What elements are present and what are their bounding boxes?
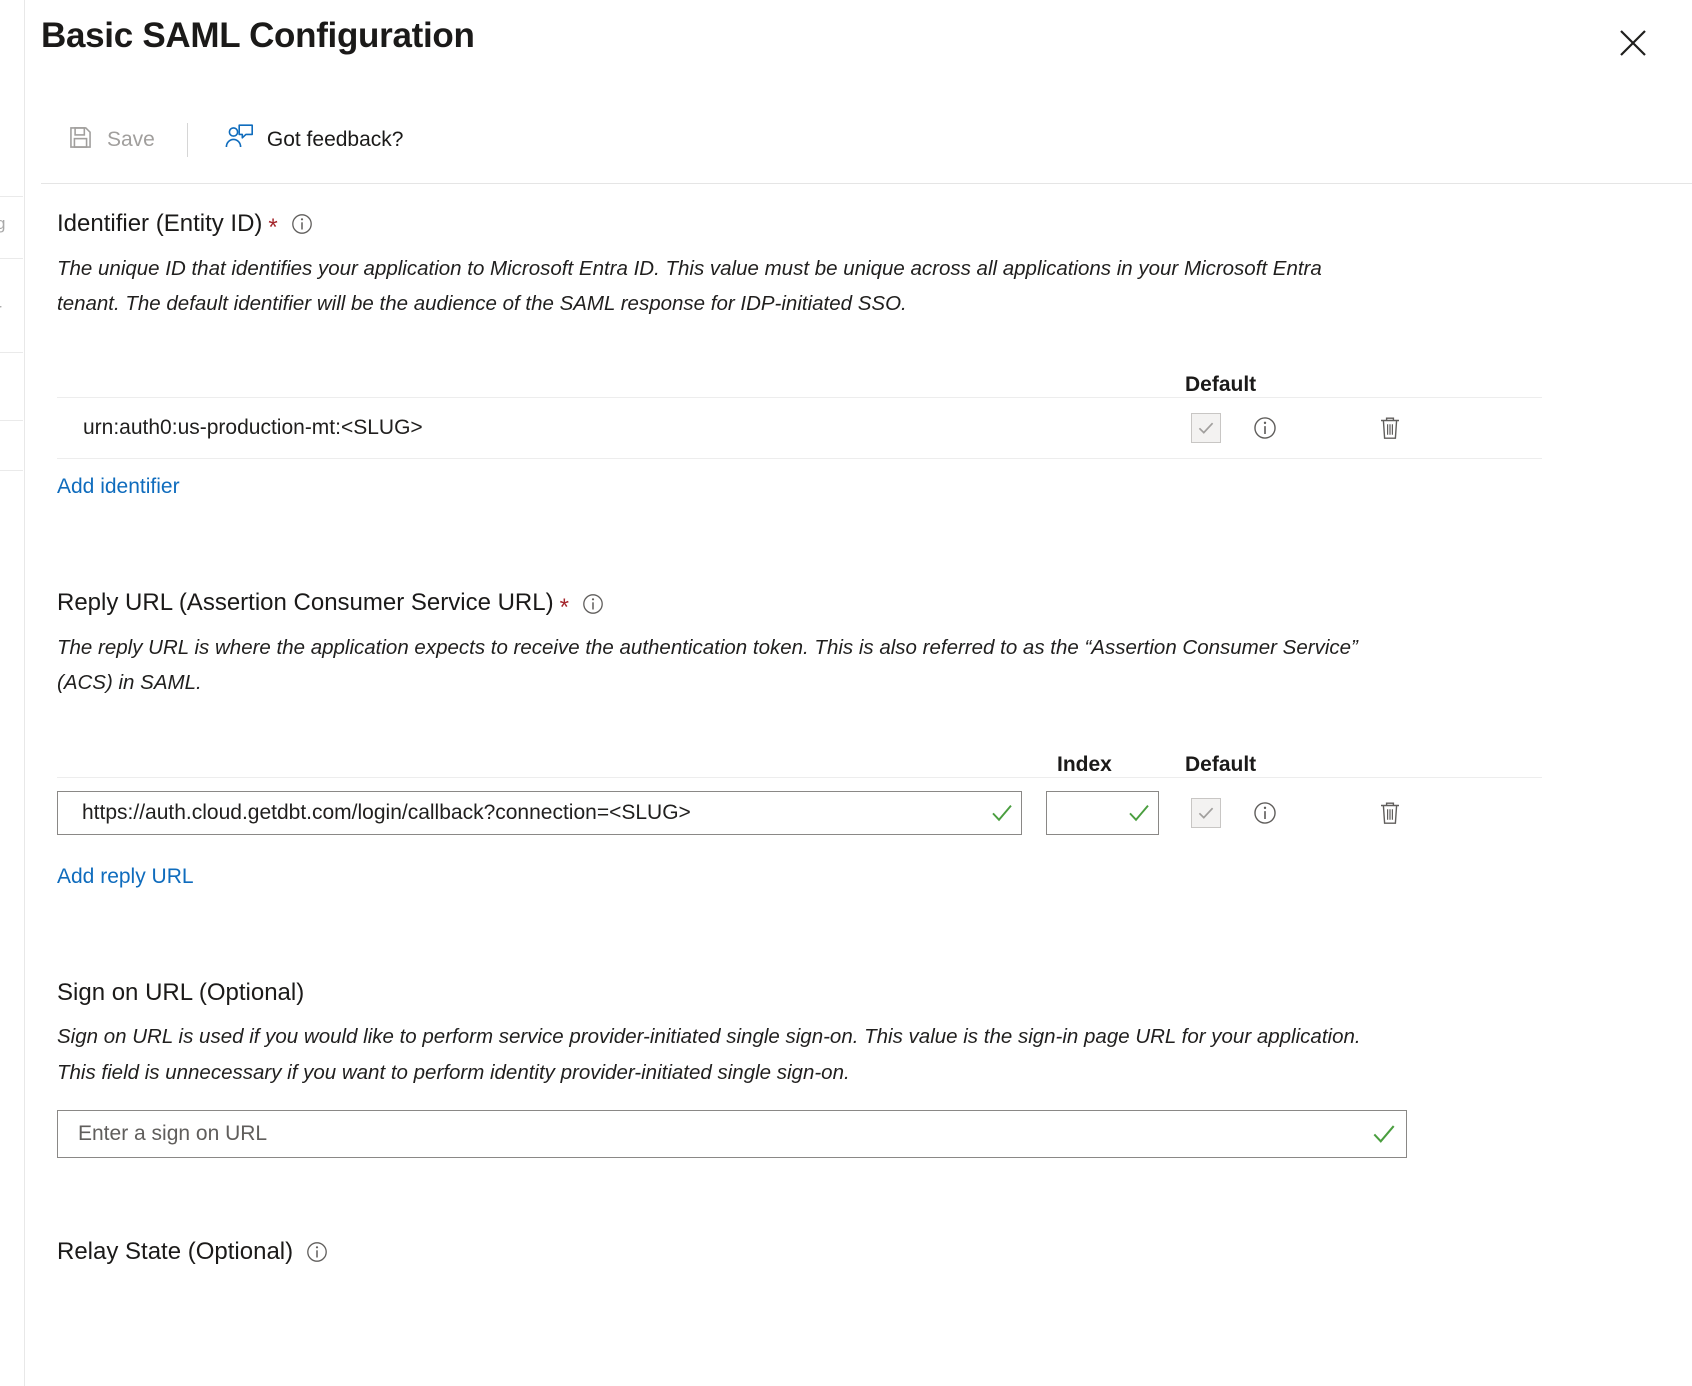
section-spacer [57,889,1542,953]
checkbox-checked-disabled-icon [1191,413,1221,443]
column-header-default: Default [1185,373,1256,397]
identifier-table-header: Default [57,345,1542,397]
identifier-value[interactable]: urn:auth0:us-production-mt:<SLUG> [83,416,423,440]
table-row: urn:auth0:us-production-mt:<SLUG> [57,397,1542,459]
got-feedback-button[interactable]: Got feedback? [214,114,414,166]
blade-edge-text-fragment: g [0,214,5,234]
reply-url-label: Reply URL (Assertion Consumer Service UR… [57,589,554,618]
reply-url-default-checkbox[interactable] [1191,798,1221,828]
reply-url-index-input[interactable] [1057,800,1126,826]
sign-on-url-input[interactable] [76,1121,1370,1147]
sign-on-url-description: Sign on URL is used if you would like to… [57,1019,1387,1090]
sign-on-url-section: Sign on URL (Optional) Sign on URL is us… [57,953,1542,1158]
sign-on-url-input-wrapper [57,1110,1407,1158]
info-icon[interactable] [582,593,604,615]
got-feedback-label: Got feedback? [267,128,404,152]
page-title: Basic SAML Configuration [41,16,475,56]
reply-url-input-wrapper [57,791,1022,835]
sign-on-url-label: Sign on URL (Optional) [57,979,304,1008]
identifier-description: The unique ID that identifies your appli… [57,251,1387,322]
info-icon[interactable] [306,1241,328,1263]
identifier-default-info-icon[interactable] [1253,416,1277,440]
background-blade-edge: g r [0,0,26,1386]
blade-edge-line [0,196,23,197]
blade-content: Identifier (Entity ID) * The unique ID t… [41,184,1692,1267]
green-check-icon [1370,1120,1398,1148]
relay-state-section: Relay State (Optional) [57,1212,1542,1267]
reply-url-description: The reply URL is where the application e… [57,630,1387,701]
blade-edge-line [0,258,23,259]
blade-edge-text-fragment: r [0,300,2,320]
section-spacer [57,1158,1542,1212]
reply-url-section: Reply URL (Assertion Consumer Service UR… [57,563,1542,888]
required-marker: * [560,596,569,620]
reply-url-table-header: Index Default [57,725,1542,777]
identifier-label: Identifier (Entity ID) [57,210,262,239]
add-reply-url-link[interactable]: Add reply URL [57,865,194,889]
command-bar: Save Got feedback? [41,96,1692,184]
info-icon[interactable] [291,213,313,235]
column-header-index: Index [1057,753,1112,777]
identifier-default-checkbox[interactable] [1191,413,1221,443]
identifier-section: Identifier (Entity ID) * The unique ID t… [57,184,1542,499]
relay-state-label: Relay State (Optional) [57,1238,293,1267]
blade-edge-line [0,470,23,471]
trash-icon[interactable] [1377,414,1403,442]
green-check-icon [1126,800,1152,826]
blade-edge-rule [24,0,25,1386]
reply-url-default-info-icon[interactable] [1253,801,1277,825]
feedback-person-icon [224,123,254,156]
identifier-label-row: Identifier (Entity ID) * [57,210,1542,239]
save-button[interactable]: Save [57,114,165,166]
close-icon[interactable] [1612,22,1654,64]
reply-url-label-row: Reply URL (Assertion Consumer Service UR… [57,589,1542,618]
save-button-label: Save [107,128,155,152]
checkbox-checked-disabled-icon [1191,798,1221,828]
basic-saml-configuration-blade: Basic SAML Configuration Save [26,0,1692,1386]
blade-header: Basic SAML Configuration [26,0,1692,96]
section-spacer [57,499,1542,563]
add-identifier-link[interactable]: Add identifier [57,475,180,499]
relay-state-label-row: Relay State (Optional) [57,1238,1542,1267]
sign-on-url-label-row: Sign on URL (Optional) [57,979,1542,1008]
table-row [57,777,1542,849]
required-marker: * [268,216,277,240]
blade-edge-line [0,420,23,421]
green-check-icon [989,800,1015,826]
blade-edge-line [0,352,23,353]
command-bar-divider [187,123,188,157]
save-floppy-icon [67,124,94,156]
reply-url-input[interactable] [80,800,989,826]
reply-url-index-wrapper [1046,791,1159,835]
column-header-default: Default [1185,753,1256,777]
trash-icon[interactable] [1377,799,1403,827]
